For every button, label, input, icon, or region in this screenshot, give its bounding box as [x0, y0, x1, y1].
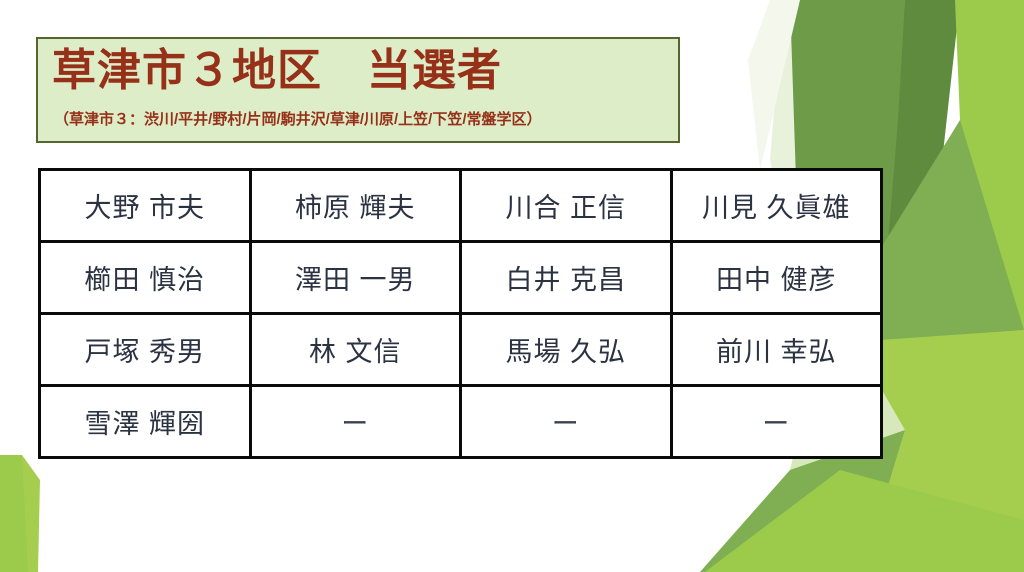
table-cell-empty: ー: [671, 386, 882, 458]
page-subtitle: （草津市３：渋川/平井/野村/片岡/駒井沢/草津/川原/上笠/下笠/常盤学区）: [54, 109, 542, 131]
shape-left-green-sliver-2: [22, 455, 40, 572]
table-row: 雪澤 輝圀ーーー: [40, 386, 882, 458]
table-cell-name: 雪澤 輝圀: [40, 386, 251, 458]
title-box: 草津市３地区 当選者 （草津市３：渋川/平井/野村/片岡/駒井沢/草津/川原/上…: [36, 37, 680, 143]
table-cell-name: 澤田 一男: [250, 242, 461, 314]
table-cell-name: 田中 健彦: [671, 242, 882, 314]
slide-canvas: 草津市３地区 当選者 （草津市３：渋川/平井/野村/片岡/駒井沢/草津/川原/上…: [0, 0, 1024, 572]
table-cell-name: 柿原 輝夫: [250, 170, 461, 242]
winners-table: 大野 市夫柿原 輝夫川合 正信川見 久眞雄櫛田 慎治澤田 一男白井 克昌田中 健…: [38, 168, 883, 459]
table-cell-name: 川見 久眞雄: [671, 170, 882, 242]
table-cell-name: 前川 幸弘: [671, 314, 882, 386]
table-cell-name: 戸塚 秀男: [40, 314, 251, 386]
table-cell-name: 馬場 久弘: [461, 314, 672, 386]
table-cell-name: 櫛田 慎治: [40, 242, 251, 314]
table-cell-name: 林 文信: [250, 314, 461, 386]
page-title: 草津市３地区 当選者: [52, 40, 502, 102]
table-row: 櫛田 慎治澤田 一男白井 克昌田中 健彦: [40, 242, 882, 314]
shape-green-bottom-wide: [705, 470, 1024, 572]
table-cell-name: 川合 正信: [461, 170, 672, 242]
table-cell-empty: ー: [461, 386, 672, 458]
shape-pale-sliver-upper: [748, 0, 800, 170]
table-cell-empty: ー: [250, 386, 461, 458]
shape-top-hairline: [0, 0, 6, 6]
shape-deep-green: [880, 0, 960, 340]
table-row: 大野 市夫柿原 輝夫川合 正信川見 久眞雄: [40, 170, 882, 242]
shape-bright-green-right: [900, 0, 1024, 572]
table-cell-name: 白井 克昌: [461, 242, 672, 314]
shape-left-green-sliver: [0, 455, 36, 572]
table-row: 戸塚 秀男林 文信馬場 久弘前川 幸弘: [40, 314, 882, 386]
table-cell-name: 大野 市夫: [40, 170, 251, 242]
winners-table-body: 大野 市夫柿原 輝夫川合 正信川見 久眞雄櫛田 慎治澤田 一男白井 克昌田中 健…: [40, 170, 882, 458]
